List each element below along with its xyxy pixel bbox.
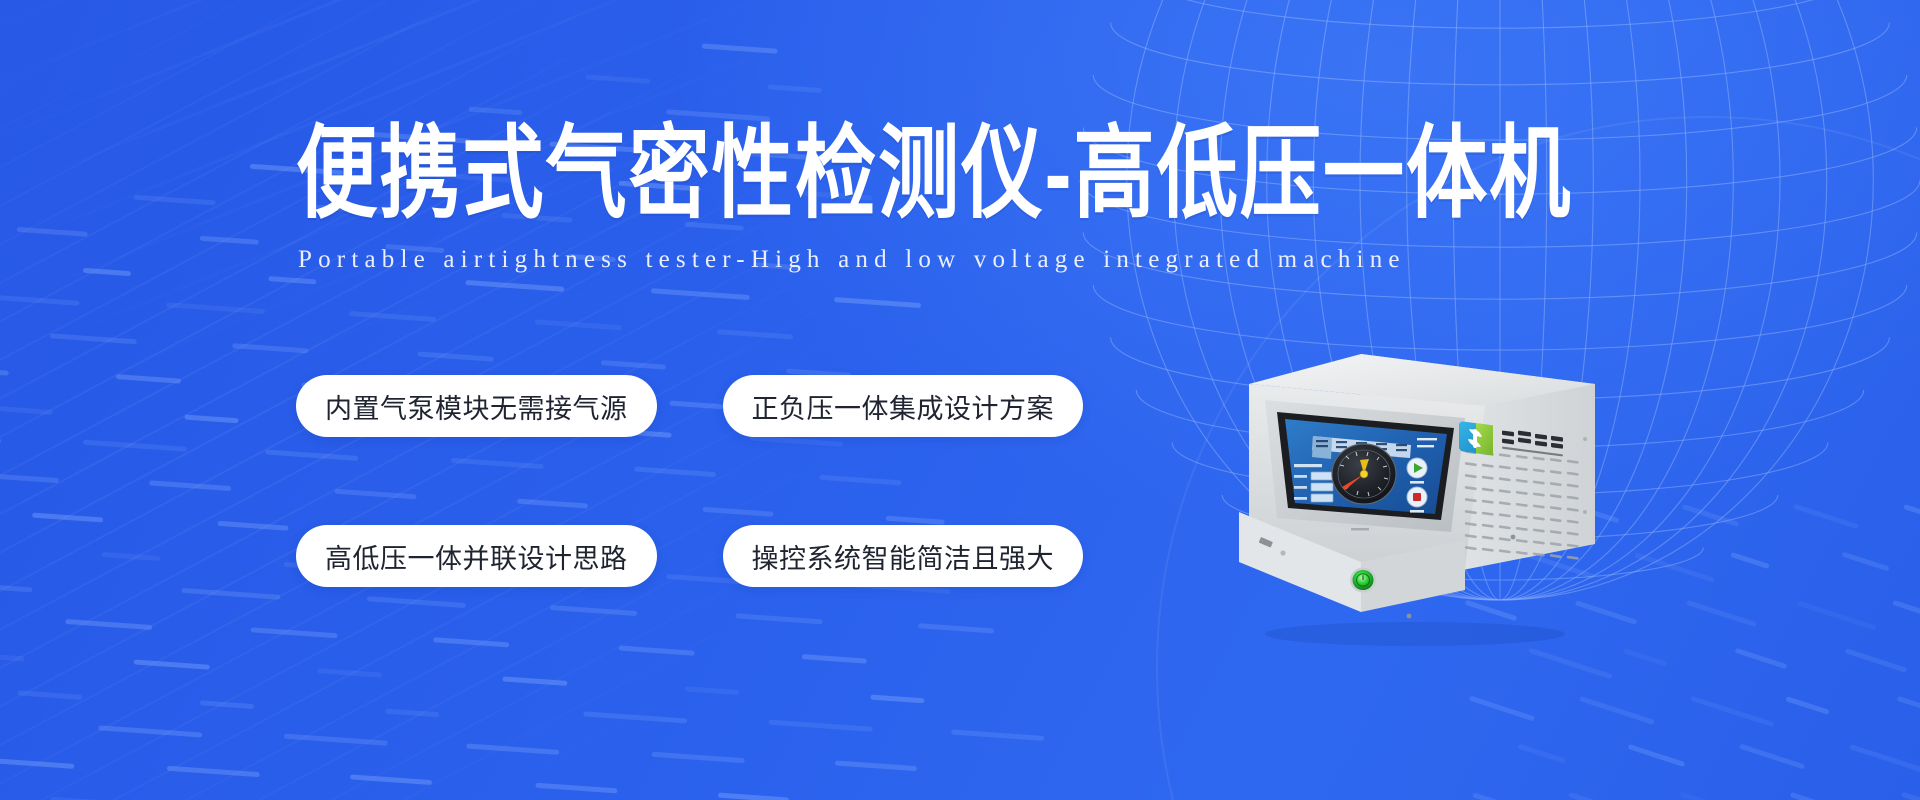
feature-pill[interactable]: 高低压一体并联设计思路 (296, 525, 657, 587)
promo-banner: 便携式气密性检测仪-高低压一体机 Portable airtightness t… (0, 0, 1920, 800)
feature-row: 内置气泵模块无需接气源 正负压一体集成设计方案 (296, 375, 1096, 437)
product-image (1165, 322, 1615, 652)
banner-subtitle: Portable airtightness tester-High and lo… (298, 246, 1406, 274)
feature-list: 内置气泵模块无需接气源 正负压一体集成设计方案 高低压一体并联设计思路 操控系统… (296, 375, 1096, 675)
feature-pill[interactable]: 正负压一体集成设计方案 (723, 375, 1084, 437)
banner-title: 便携式气密性检测仪-高低压一体机 (296, 124, 1572, 226)
feature-row: 高低压一体并联设计思路 操控系统智能简洁且强大 (296, 525, 1096, 587)
feature-pill[interactable]: 操控系统智能简洁且强大 (723, 525, 1084, 587)
feature-pill[interactable]: 内置气泵模块无需接气源 (296, 375, 657, 437)
device-illustration (1165, 322, 1615, 652)
banner-content: 便携式气密性检测仪-高低压一体机 Portable airtightness t… (0, 0, 1920, 800)
